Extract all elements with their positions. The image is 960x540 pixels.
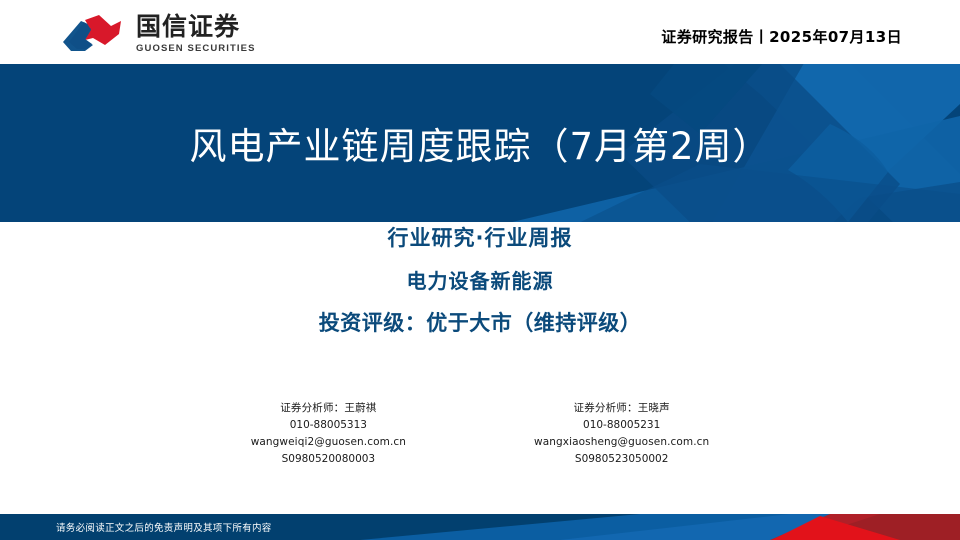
- analyst-card: 证券分析师：王晓声 010-88005231 wangxiaosheng@guo…: [534, 400, 709, 468]
- report-date-label: 证券研究报告丨2025年07月13日: [661, 26, 902, 47]
- subtitle-research-type: 行业研究·行业周报: [0, 228, 960, 249]
- subtitle-sector: 电力设备新能源: [0, 271, 960, 291]
- analyst-phone: 010-88005231: [534, 417, 709, 434]
- analyst-phone: 010-88005313: [251, 417, 406, 434]
- brand-name-en: GUOSEN SECURITIES: [136, 44, 256, 54]
- subtitle-group: 行业研究·行业周报 电力设备新能源 投资评级：优于大市（维持评级）: [0, 228, 960, 334]
- slide-cover-page: 国信证券 GUOSEN SECURITIES 证券研究报告丨2025年07月13…: [0, 0, 960, 540]
- page-header: 国信证券 GUOSEN SECURITIES 证券研究报告丨2025年07月13…: [0, 0, 960, 64]
- title-banner: 风电产业链周度跟踪（7月第2周）: [0, 64, 960, 222]
- brand-name-cn: 国信证券: [136, 14, 256, 40]
- page-footer: 请务必阅读正文之后的免责声明及其项下所有内容: [0, 514, 960, 540]
- analyst-email[interactable]: wangxiaosheng@guosen.com.cn: [534, 434, 709, 451]
- analyst-license-number: S0980523050002: [534, 451, 709, 468]
- analyst-email[interactable]: wangweiqi2@guosen.com.cn: [251, 434, 406, 451]
- analyst-contact-group: 证券分析师：王蔚祺 010-88005313 wangweiqi2@guosen…: [0, 400, 960, 468]
- footer-disclaimer: 请务必阅读正文之后的免责声明及其项下所有内容: [56, 514, 272, 540]
- analyst-name: 证券分析师：王蔚祺: [251, 400, 406, 417]
- page-title: 风电产业链周度跟踪（7月第2周）: [0, 64, 960, 222]
- subtitle-rating: 投资评级：优于大市（维持评级）: [0, 313, 960, 334]
- analyst-license-number: S0980520080003: [251, 451, 406, 468]
- guosen-logo-icon: [55, 12, 127, 56]
- analyst-name: 证券分析师：王晓声: [534, 400, 709, 417]
- analyst-card: 证券分析师：王蔚祺 010-88005313 wangweiqi2@guosen…: [251, 400, 406, 468]
- brand-wordmark: 国信证券 GUOSEN SECURITIES: [136, 14, 256, 54]
- brand-logo: 国信证券 GUOSEN SECURITIES: [55, 12, 256, 56]
